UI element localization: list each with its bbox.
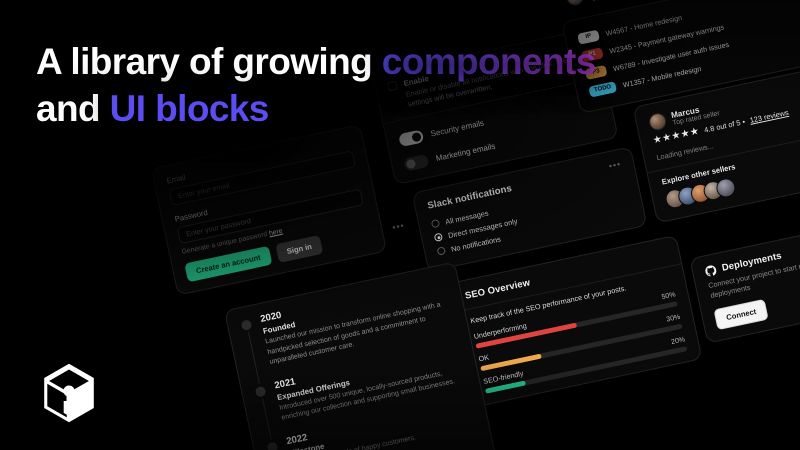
hero-banner: Email Enter your email Password Enter yo… — [0, 0, 800, 450]
radio-no-notifications[interactable] — [437, 246, 446, 255]
timeline-dot — [266, 441, 278, 450]
auth-card-menu-icon[interactable]: ••• — [392, 221, 406, 232]
radio-direct-messages[interactable] — [434, 233, 443, 242]
auth-card: Email Enter your email Password Enter yo… — [151, 124, 387, 296]
deployments-card: Deployments Connect your project to star… — [689, 218, 800, 344]
profile-person: Emily QA Engineer — [565, 0, 630, 7]
marketing-emails-toggle[interactable] — [403, 154, 429, 172]
avatar — [565, 0, 585, 7]
slack-card-menu-icon[interactable]: ••• — [608, 160, 622, 171]
seo-overview-card: SEO Overview Keep track of the SEO perfo… — [449, 235, 702, 408]
headline-line-1: A library of growing components — [36, 38, 696, 85]
timeline-dot — [241, 319, 253, 331]
cube-logo — [40, 362, 98, 424]
profile-role: QA Engineer — [589, 0, 629, 2]
reviews-link[interactable]: 123 reviews — [749, 108, 789, 125]
radio-all-messages[interactable] — [431, 219, 440, 228]
rating-text: 4.8 out of 5 • — [703, 117, 746, 134]
connect-button[interactable]: Connect — [713, 299, 769, 330]
headline-text-2: and — [36, 88, 110, 129]
seo-bar-pct: 20% — [671, 337, 686, 347]
headline-line-2: and UI blocks — [36, 85, 696, 132]
seo-bar-pct: 50% — [661, 292, 676, 302]
timeline-marker — [265, 438, 284, 450]
marketing-emails-label: Marketing emails — [435, 141, 496, 162]
headline-accent-components: components — [382, 41, 596, 82]
toggle-knob — [411, 132, 422, 143]
timeline-marker — [239, 316, 265, 385]
timeline-line — [261, 398, 271, 439]
timeline-line — [247, 332, 259, 384]
generate-password-link[interactable]: here — [268, 228, 283, 238]
sign-in-button[interactable]: Sign in — [275, 235, 323, 263]
github-icon — [704, 264, 717, 277]
headline-accent-ui-blocks: UI blocks — [110, 88, 269, 129]
seo-bar-pct: 30% — [666, 314, 681, 324]
seo-bar-label: OK — [478, 353, 490, 364]
page-title: A library of growing components and UI b… — [36, 38, 696, 133]
headline-text-1: A library of growing — [36, 41, 382, 82]
timeline-card: 2020 Founded Launched our mission to tra… — [224, 261, 500, 450]
toggle-knob — [406, 158, 417, 169]
timeline-marker — [253, 382, 277, 440]
timeline-dot — [255, 385, 267, 397]
